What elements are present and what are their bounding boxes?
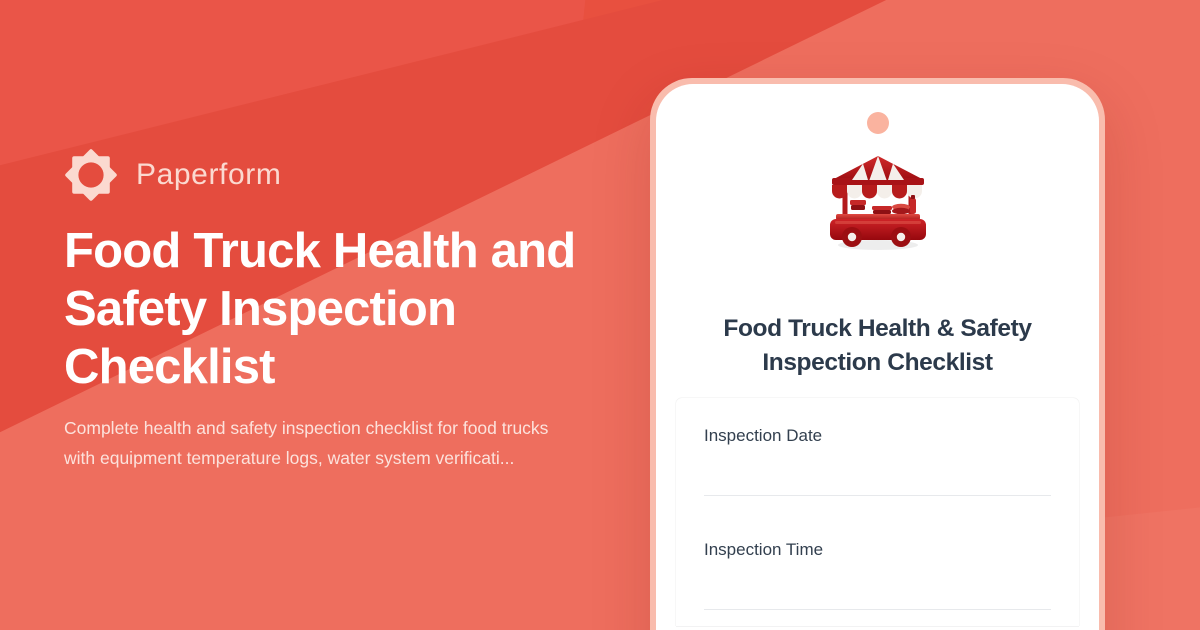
brand-lockup[interactable]: Paperform: [64, 148, 281, 202]
field-label: Inspection Time: [704, 538, 1051, 562]
food-cart-icon: [656, 150, 1099, 254]
field-input-underline[interactable]: [704, 609, 1051, 610]
field-input-underline[interactable]: [704, 495, 1051, 496]
form-title: Food Truck Health & Safety Inspection Ch…: [680, 312, 1075, 380]
form-field-inspection-time[interactable]: Inspection Time: [676, 512, 1079, 626]
hero-column: Paperform Food Truck Health and Safety I…: [64, 0, 664, 630]
form-fields: Inspection Date Inspection Time: [676, 398, 1079, 626]
page-description: Complete health and safety inspection ch…: [64, 413, 584, 473]
page-title: Food Truck Health and Safety Inspection …: [64, 222, 624, 396]
paperform-logo-icon: [64, 148, 118, 202]
phone-mockup: Food Truck Health & Safety Inspection Ch…: [650, 78, 1105, 630]
field-label: Inspection Date: [704, 424, 1051, 448]
brand-wordmark: Paperform: [136, 158, 281, 192]
form-field-inspection-date[interactable]: Inspection Date: [676, 398, 1079, 512]
social-share-card: Paperform Food Truck Health and Safety I…: [0, 0, 1200, 630]
phone-screen: Food Truck Health & Safety Inspection Ch…: [656, 84, 1099, 630]
camera-dot-icon: [867, 112, 889, 134]
